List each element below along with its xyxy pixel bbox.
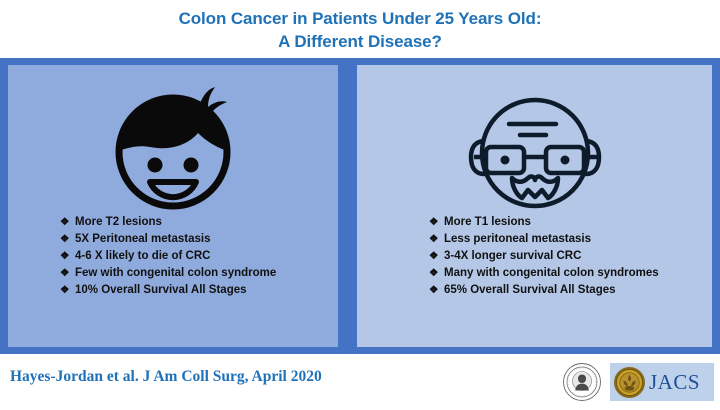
page-title-line-2: A Different Disease? [278, 30, 442, 53]
page-title-line-1: Colon Cancer in Patients Under 25 Years … [179, 7, 542, 30]
list-item: ❖ 4-6 X likely to die of CRC [60, 249, 328, 265]
jacs-logo: JACS [610, 363, 714, 401]
footer: Hayes-Jordan et al. J Am Coll Surg, Apri… [0, 354, 720, 410]
bullet-diamond-icon: ❖ [429, 283, 444, 299]
adult-bullet-list: ❖ More T1 lesions ❖ Less peritoneal meta… [357, 215, 712, 299]
jacs-wordmark: JACS [649, 370, 700, 395]
comparison-frame: ❖ More T2 lesions ❖ 5X Peritoneal metast… [0, 58, 720, 354]
bullet-diamond-icon: ❖ [60, 266, 75, 282]
acs-seal-logo [562, 362, 602, 402]
bullet-diamond-icon: ❖ [60, 283, 75, 299]
citation-text: Hayes-Jordan et al. J Am Coll Surg, Apri… [10, 368, 322, 386]
list-item: ❖ 10% Overall Survival All Stages [60, 283, 328, 299]
slide-title: Colon Cancer in Patients Under 25 Years … [0, 0, 720, 58]
list-item: ❖ 3-4X longer survival CRC [429, 249, 702, 265]
child-face-icon [98, 77, 248, 212]
list-item: ❖ 65% Overall Survival All Stages [429, 283, 702, 299]
pediatric-bullet-list: ❖ More T2 lesions ❖ 5X Peritoneal metast… [8, 215, 338, 299]
bullet-diamond-icon: ❖ [60, 215, 75, 231]
pediatric-figure [8, 65, 338, 215]
panel-pediatric: ❖ More T2 lesions ❖ 5X Peritoneal metast… [8, 65, 338, 347]
bullet-diamond-icon: ❖ [429, 249, 444, 265]
bullet-diamond-icon: ❖ [429, 232, 444, 248]
list-item: ❖ More T1 lesions [429, 215, 702, 231]
list-item: ❖ Many with congenital colon syndromes [429, 266, 702, 282]
bullet-diamond-icon: ❖ [60, 232, 75, 248]
bullet-diamond-icon: ❖ [429, 266, 444, 282]
adult-figure [357, 65, 712, 215]
panel-adult: ❖ More T1 lesions ❖ Less peritoneal meta… [357, 65, 712, 347]
list-item: ❖ Less peritoneal metastasis [429, 232, 702, 248]
bullet-diamond-icon: ❖ [429, 215, 444, 231]
list-item: ❖ Few with congenital colon syndrome [60, 266, 328, 282]
list-item: ❖ More T2 lesions [60, 215, 328, 231]
elderly-man-face-icon [460, 77, 610, 212]
list-item: ❖ 5X Peritoneal metastasis [60, 232, 328, 248]
bullet-diamond-icon: ❖ [60, 249, 75, 265]
logo-strip: JACS [562, 360, 714, 404]
jacs-seal-icon [613, 366, 646, 399]
